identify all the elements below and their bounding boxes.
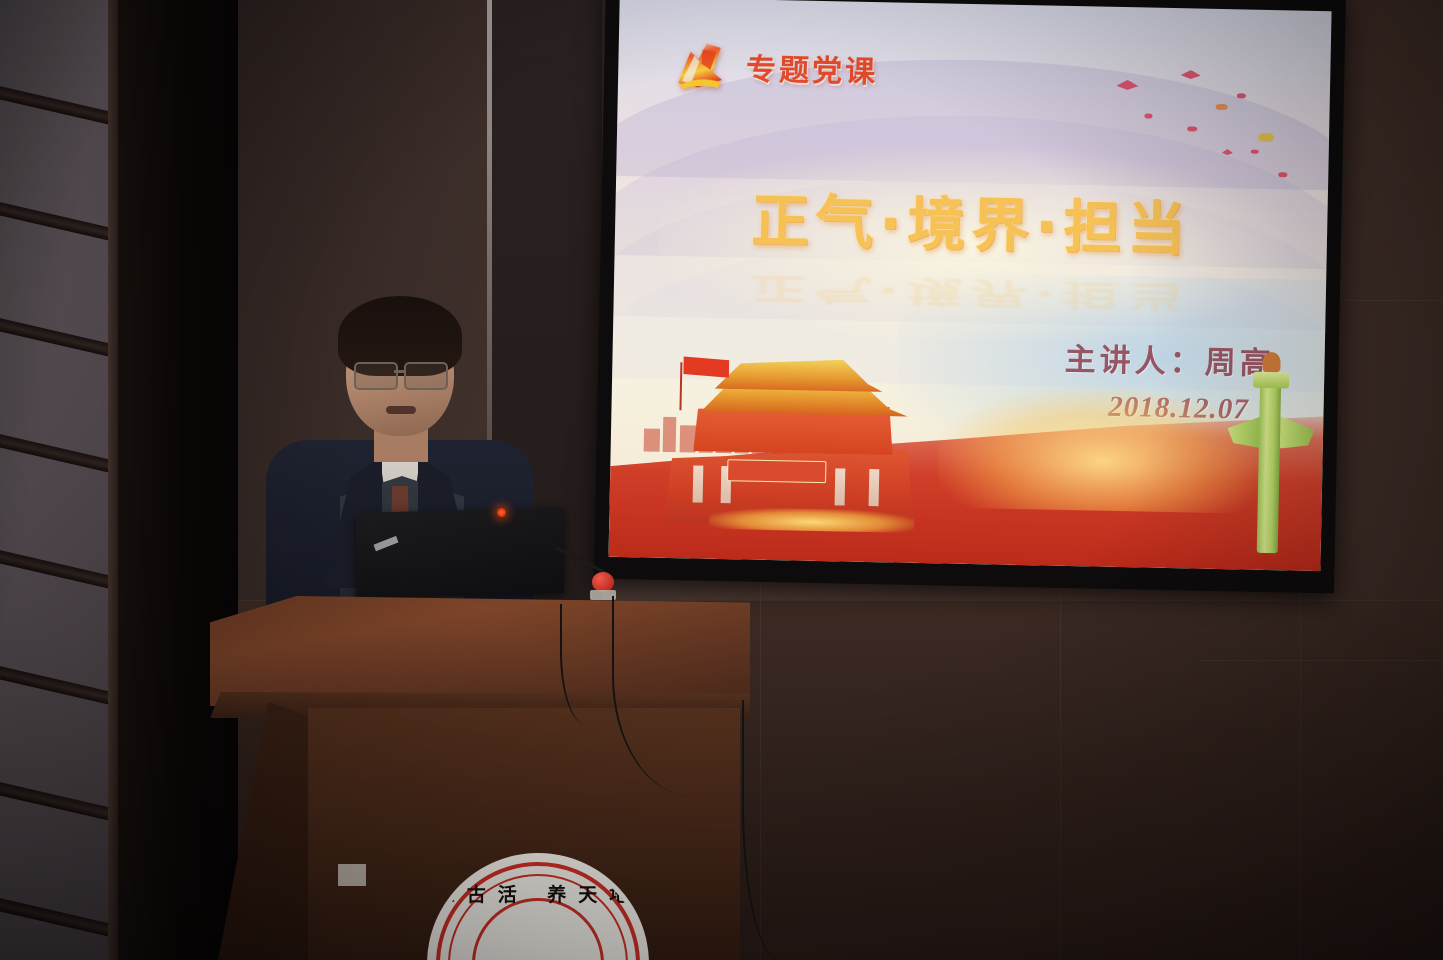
- bird-icon: [1187, 126, 1197, 131]
- flower-bed: [709, 507, 914, 533]
- gate-column: [869, 469, 880, 506]
- laptop-computer[interactable]: [356, 507, 564, 599]
- bird-icon: [1250, 150, 1258, 154]
- slide-header-label: 专题党课: [746, 45, 879, 92]
- slide-header: 专题党课: [668, 37, 879, 97]
- gate-column: [692, 466, 703, 503]
- podium-side-panel: [218, 702, 314, 960]
- wall-seam: [1200, 660, 1443, 661]
- huabiao-top-beast: [1262, 352, 1280, 373]
- huabiao-column: [1235, 351, 1303, 554]
- eyeglasses-icon: [354, 362, 398, 390]
- power-led: [497, 508, 506, 517]
- slide-main-title: 正气·境界·担当: [615, 170, 1329, 268]
- party-hammer-sickle-emblem: [668, 37, 731, 94]
- wall-seam: [1060, 560, 1061, 960]
- flag-pole: [680, 362, 683, 410]
- slide-canvas: 专题党课 正气·境界·担当 正气·境界·担当 主讲人：周高 2018.12.07: [608, 0, 1331, 571]
- tiananmen-gate: [652, 339, 940, 529]
- eyeglasses-bridge: [394, 370, 406, 373]
- louvered-wall: [0, 0, 120, 960]
- bird-icon: [1237, 93, 1246, 98]
- presenter-mouth: [386, 406, 416, 414]
- emblem-chinese-text: 乐古活 养天地: [432, 880, 644, 907]
- eyeglasses-icon: [404, 362, 448, 390]
- ground-glow: [937, 384, 1267, 514]
- huabiao-cap: [1253, 371, 1289, 388]
- bird-icon: [1258, 133, 1274, 142]
- bird-icon: [1216, 104, 1228, 110]
- red-flag: [683, 357, 729, 378]
- huabiao-shaft: [1257, 376, 1281, 554]
- photo-scene: 专题党课 正气·境界·担当 正气·境界·担当 主讲人：周高 2018.12.07: [0, 0, 1443, 960]
- gate-column: [835, 469, 846, 506]
- microphone-head[interactable]: [592, 572, 614, 592]
- gate-plaque: [727, 459, 826, 483]
- laptop-logo: [374, 536, 399, 551]
- projection-screen: 专题党课 正气·境界·担当 正气·境界·担当 主讲人：周高 2018.12.07: [594, 0, 1346, 593]
- bird-icon: [1181, 70, 1201, 79]
- podium-asset-label: [338, 864, 366, 886]
